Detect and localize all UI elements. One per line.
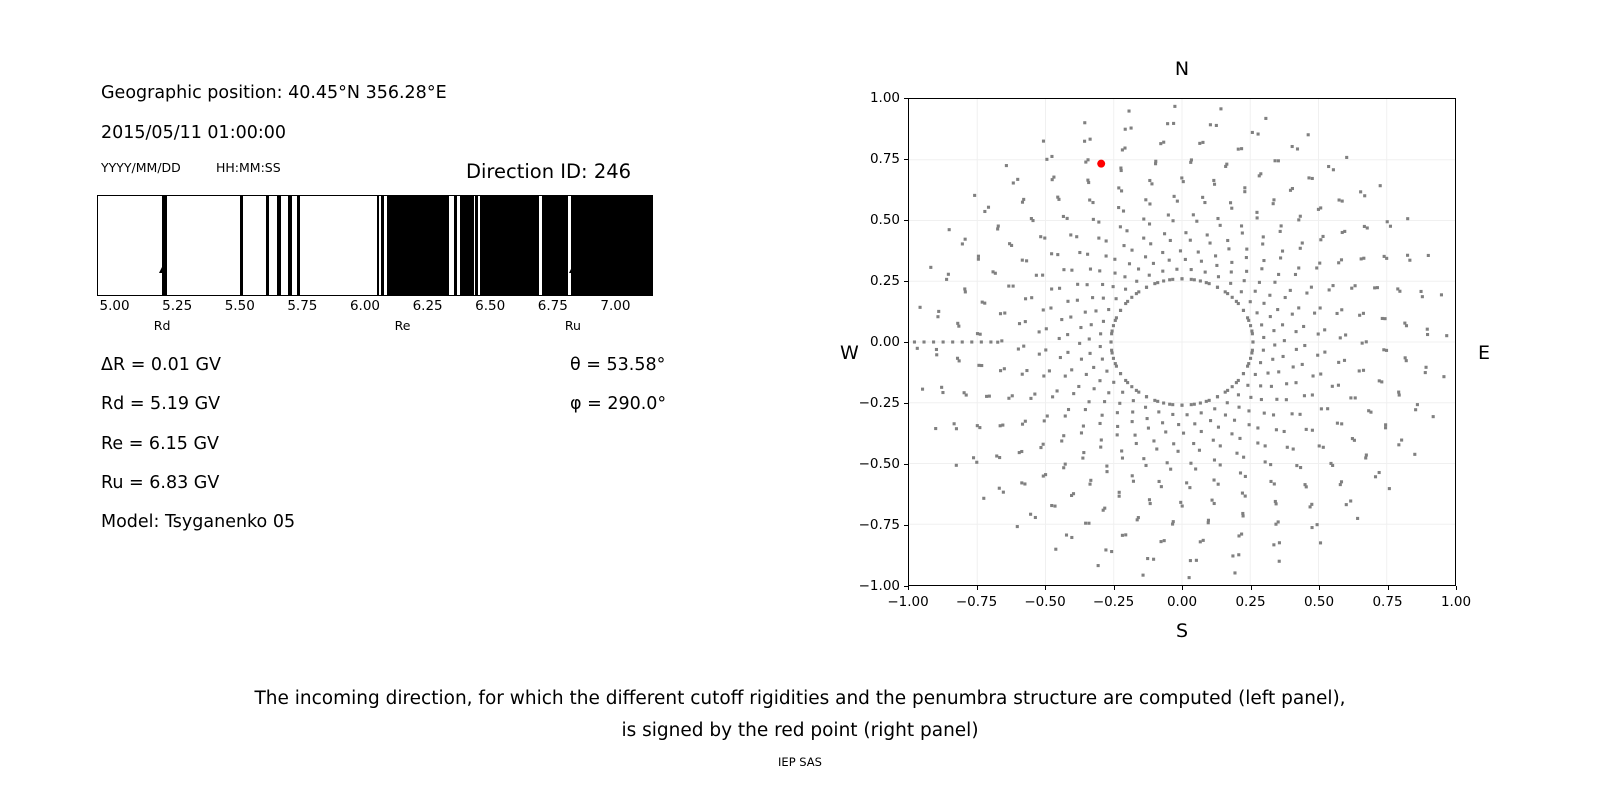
direction-point bbox=[1420, 290, 1423, 293]
direction-point bbox=[1364, 456, 1367, 459]
direction-point bbox=[1274, 159, 1277, 162]
direction-point bbox=[1119, 225, 1122, 228]
direction-point bbox=[1241, 231, 1244, 234]
direction-point bbox=[1310, 286, 1313, 289]
direction-point bbox=[1142, 217, 1145, 220]
sky-xtick-label: −0.25 bbox=[1093, 594, 1134, 610]
direction-point bbox=[1180, 277, 1183, 280]
direction-point bbox=[1340, 308, 1343, 311]
direction-point bbox=[1044, 348, 1047, 351]
direction-point bbox=[1058, 287, 1061, 290]
direction-point bbox=[1195, 559, 1198, 562]
direction-point bbox=[1341, 200, 1344, 203]
direction-point bbox=[1163, 232, 1166, 235]
direction-point bbox=[1278, 560, 1281, 563]
direction-point bbox=[1115, 316, 1118, 319]
direction-point bbox=[1216, 286, 1219, 289]
sky-ytick-label: −0.75 bbox=[846, 517, 900, 533]
direction-point bbox=[935, 348, 938, 351]
direction-point bbox=[1367, 409, 1370, 412]
direction-point bbox=[1351, 437, 1354, 440]
direction-point bbox=[1292, 365, 1295, 368]
direction-point bbox=[1111, 329, 1114, 332]
direction-point bbox=[1242, 309, 1245, 312]
direction-point bbox=[998, 456, 1001, 459]
sky-ytick-mark bbox=[904, 159, 908, 160]
direction-point bbox=[1189, 239, 1192, 242]
direction-point bbox=[1299, 413, 1302, 416]
direction-point bbox=[1336, 422, 1339, 425]
direction-point bbox=[1363, 194, 1366, 197]
direction-point bbox=[1207, 519, 1210, 522]
direction-point bbox=[1442, 375, 1445, 378]
param-ru: Ru = 6.83 GV bbox=[101, 473, 219, 493]
direction-point bbox=[1050, 252, 1053, 255]
direction-point bbox=[1362, 312, 1365, 315]
direction-point bbox=[948, 228, 951, 231]
direction-point bbox=[1264, 117, 1267, 120]
direction-point bbox=[1382, 348, 1385, 351]
direction-point bbox=[1088, 198, 1091, 201]
direction-point bbox=[1365, 453, 1368, 456]
direction-point bbox=[1254, 373, 1257, 376]
penumbra-forbidden-band bbox=[277, 196, 281, 295]
direction-point bbox=[1294, 273, 1297, 276]
direction-point bbox=[1156, 281, 1159, 284]
direction-point bbox=[1188, 486, 1191, 489]
direction-point bbox=[1205, 281, 1208, 284]
direction-point bbox=[1339, 336, 1342, 339]
direction-point bbox=[1131, 420, 1134, 423]
cutoff-marker-arrow-re bbox=[403, 266, 404, 296]
direction-point bbox=[1384, 423, 1387, 426]
direction-point bbox=[994, 272, 997, 275]
direction-point bbox=[1240, 147, 1243, 150]
direction-point bbox=[1146, 417, 1149, 420]
direction-point bbox=[1248, 423, 1251, 426]
direction-point bbox=[1141, 574, 1144, 577]
direction-point bbox=[1250, 351, 1253, 354]
penumbra-forbidden-band bbox=[240, 196, 244, 295]
direction-point bbox=[1246, 365, 1249, 368]
direction-point bbox=[1100, 438, 1103, 441]
direction-point bbox=[1303, 394, 1306, 397]
direction-point bbox=[1087, 181, 1090, 184]
direction-point bbox=[1219, 224, 1222, 227]
sky-xtick-mark bbox=[1456, 586, 1457, 590]
penumbra-xtick-label: 5.50 bbox=[225, 298, 255, 314]
direction-point bbox=[1042, 443, 1045, 446]
direction-point bbox=[1130, 249, 1133, 252]
direction-point bbox=[1137, 267, 1140, 270]
direction-point bbox=[1261, 242, 1264, 245]
param-phi: φ = 290.0° bbox=[570, 394, 666, 414]
direction-point bbox=[1259, 384, 1262, 387]
direction-point bbox=[983, 302, 986, 305]
direction-point bbox=[1286, 446, 1289, 449]
sky-ytick-label: −0.25 bbox=[846, 395, 900, 411]
direction-point bbox=[1238, 437, 1241, 440]
direction-point bbox=[1148, 274, 1151, 277]
param-model: Model: Tsyganenko 05 bbox=[101, 512, 295, 532]
direction-point bbox=[1118, 491, 1121, 494]
direction-point bbox=[1177, 423, 1180, 426]
direction-point bbox=[1113, 272, 1116, 275]
direction-point bbox=[1362, 257, 1365, 260]
direction-point bbox=[1209, 419, 1212, 422]
direction-point bbox=[1093, 387, 1096, 390]
direction-point bbox=[1273, 343, 1276, 346]
direction-point bbox=[1120, 449, 1123, 452]
sky-xtick-label: −0.50 bbox=[1024, 594, 1065, 610]
direction-point bbox=[1316, 523, 1319, 526]
direction-point bbox=[1144, 406, 1147, 409]
direction-point bbox=[1089, 138, 1092, 141]
direction-point bbox=[1276, 308, 1279, 311]
direction-point bbox=[1200, 260, 1203, 263]
sky-xtick-label: −0.75 bbox=[956, 594, 997, 610]
direction-point bbox=[1098, 379, 1101, 382]
direction-point bbox=[1039, 235, 1042, 238]
direction-point bbox=[1358, 369, 1361, 372]
direction-point bbox=[947, 273, 950, 276]
direction-point bbox=[1084, 522, 1087, 525]
direction-point bbox=[985, 395, 988, 398]
direction-point bbox=[1251, 340, 1254, 343]
penumbra-xtick-label: 6.75 bbox=[538, 298, 568, 314]
direction-point bbox=[1312, 374, 1315, 377]
direction-point bbox=[1054, 548, 1057, 551]
direction-point bbox=[1135, 442, 1138, 445]
direction-point bbox=[1260, 323, 1263, 326]
direction-point bbox=[1249, 324, 1252, 327]
direction-point bbox=[1337, 361, 1340, 364]
direction-point bbox=[1179, 249, 1182, 252]
direction-point bbox=[1099, 332, 1102, 335]
direction-point bbox=[1376, 286, 1379, 289]
direction-point bbox=[1362, 369, 1365, 372]
direction-point bbox=[1017, 347, 1020, 350]
compass-east-label: E bbox=[1478, 342, 1490, 364]
selected-direction-point bbox=[1097, 160, 1105, 168]
param-theta: θ = 53.58° bbox=[570, 355, 665, 375]
direction-point bbox=[1270, 385, 1273, 388]
direction-point bbox=[1305, 428, 1308, 431]
direction-point bbox=[1217, 275, 1220, 278]
direction-point bbox=[1144, 255, 1147, 258]
direction-point bbox=[1257, 133, 1260, 136]
direction-point bbox=[1310, 503, 1313, 506]
direction-point bbox=[1177, 450, 1180, 453]
direction-point bbox=[1148, 202, 1151, 205]
direction-point bbox=[1268, 294, 1271, 297]
direction-point bbox=[1445, 334, 1448, 337]
direction-point bbox=[1043, 419, 1046, 422]
direction-point bbox=[1172, 122, 1175, 125]
direction-point bbox=[1242, 456, 1245, 459]
direction-point bbox=[1168, 278, 1171, 281]
direction-point bbox=[1020, 450, 1023, 453]
direction-point bbox=[1060, 439, 1063, 442]
direction-point bbox=[961, 340, 964, 343]
direction-point bbox=[1359, 190, 1362, 193]
direction-point bbox=[1227, 247, 1230, 250]
direction-point bbox=[1123, 275, 1126, 278]
direction-point bbox=[1002, 491, 1005, 494]
direction-point bbox=[1237, 379, 1240, 382]
direction-point bbox=[1241, 492, 1244, 495]
direction-point bbox=[1279, 256, 1282, 259]
direction-point bbox=[1097, 237, 1100, 240]
direction-point bbox=[1340, 480, 1343, 483]
direction-point bbox=[932, 340, 935, 343]
direction-point bbox=[1150, 182, 1153, 185]
penumbra-forbidden-band bbox=[571, 196, 653, 295]
penumbra-forbidden-band bbox=[381, 196, 384, 295]
direction-point bbox=[1045, 327, 1048, 330]
direction-point bbox=[1148, 498, 1151, 501]
direction-point bbox=[1159, 540, 1162, 543]
penumbra-xtick-label: 7.00 bbox=[600, 298, 630, 314]
direction-point bbox=[934, 427, 937, 430]
direction-point bbox=[1383, 255, 1386, 258]
direction-point bbox=[1302, 325, 1305, 328]
direction-point bbox=[1331, 385, 1334, 388]
direction-point bbox=[1318, 262, 1321, 265]
direction-point bbox=[1279, 230, 1282, 233]
sky-ytick-mark bbox=[904, 281, 908, 282]
direction-point bbox=[1112, 357, 1115, 360]
direction-point bbox=[1137, 391, 1140, 394]
sky-plot-area bbox=[908, 98, 1456, 586]
direction-point bbox=[953, 422, 956, 425]
direction-point bbox=[1213, 183, 1216, 186]
direction-point bbox=[1081, 457, 1084, 460]
direction-point bbox=[1160, 485, 1163, 488]
direction-point bbox=[1142, 457, 1145, 460]
direction-point bbox=[1152, 439, 1155, 442]
direction-point bbox=[1378, 379, 1381, 382]
direction-point bbox=[1254, 290, 1257, 293]
direction-point bbox=[1124, 379, 1127, 382]
direction-point bbox=[1285, 382, 1288, 385]
direction-point bbox=[1272, 329, 1275, 332]
direction-point bbox=[1384, 317, 1387, 320]
direction-point bbox=[1016, 525, 1019, 528]
direction-point bbox=[1090, 323, 1093, 326]
direction-point bbox=[1378, 471, 1381, 474]
compass-south-label: S bbox=[1176, 620, 1188, 642]
direction-point bbox=[1296, 147, 1299, 150]
direction-point bbox=[1307, 133, 1310, 136]
direction-point bbox=[1130, 127, 1133, 130]
direction-point bbox=[1200, 411, 1203, 414]
direction-point bbox=[957, 325, 960, 328]
direction-point bbox=[1198, 449, 1201, 452]
sky-xtick-mark bbox=[1045, 586, 1046, 590]
direction-point bbox=[1044, 473, 1047, 476]
direction-point bbox=[1337, 384, 1340, 387]
direction-id-label: Direction ID: 246 bbox=[466, 160, 631, 183]
compass-north-label: N bbox=[1175, 58, 1189, 80]
direction-point bbox=[1144, 464, 1147, 467]
direction-point bbox=[1426, 328, 1429, 331]
direction-point bbox=[965, 394, 968, 397]
direction-point bbox=[1403, 322, 1406, 325]
direction-point bbox=[1272, 543, 1275, 546]
direction-point bbox=[1256, 426, 1259, 429]
direction-point bbox=[1295, 330, 1298, 333]
direction-point bbox=[1117, 186, 1120, 189]
direction-point bbox=[1397, 391, 1400, 394]
direction-point bbox=[1366, 226, 1369, 229]
direction-point bbox=[1021, 423, 1024, 426]
direction-point bbox=[1340, 422, 1343, 425]
direction-point bbox=[945, 278, 948, 281]
direction-point bbox=[1018, 322, 1021, 325]
direction-point bbox=[1025, 369, 1028, 372]
direction-point bbox=[999, 424, 1002, 427]
direction-point bbox=[1426, 333, 1429, 336]
direction-point bbox=[913, 340, 916, 343]
direction-point bbox=[1203, 201, 1206, 204]
penumbra-forbidden-band bbox=[297, 196, 300, 295]
direction-point bbox=[1264, 444, 1267, 447]
direction-point bbox=[1121, 457, 1124, 460]
direction-point bbox=[1029, 513, 1032, 516]
direction-point bbox=[1329, 462, 1332, 465]
direction-point bbox=[1272, 198, 1275, 201]
direction-point bbox=[1280, 224, 1283, 227]
direction-point bbox=[1099, 422, 1102, 425]
direction-point bbox=[1105, 254, 1108, 257]
direction-point bbox=[1167, 213, 1170, 216]
direction-point bbox=[1243, 186, 1246, 189]
direction-point bbox=[1249, 396, 1252, 399]
direction-point bbox=[1186, 413, 1189, 416]
direction-point bbox=[1190, 268, 1193, 271]
direction-point bbox=[1246, 384, 1249, 387]
direction-point bbox=[1225, 163, 1228, 166]
direction-point bbox=[1192, 442, 1195, 445]
direction-point bbox=[1212, 439, 1215, 442]
direction-point bbox=[1202, 539, 1205, 542]
direction-point bbox=[1117, 206, 1120, 209]
direction-point bbox=[1103, 507, 1106, 510]
direction-point bbox=[1080, 431, 1083, 434]
direction-point bbox=[1297, 306, 1300, 309]
direction-point bbox=[1119, 372, 1122, 375]
direction-point bbox=[1229, 201, 1232, 204]
direction-point bbox=[1349, 499, 1352, 502]
direction-point bbox=[1057, 198, 1060, 201]
direction-point bbox=[1440, 293, 1443, 296]
direction-point bbox=[1064, 375, 1067, 378]
direction-point bbox=[1289, 289, 1292, 292]
direction-point bbox=[1038, 353, 1041, 356]
direction-point bbox=[1113, 258, 1116, 261]
direction-point bbox=[1066, 351, 1069, 354]
direction-point bbox=[1206, 233, 1209, 236]
direction-point bbox=[1230, 432, 1233, 435]
direction-point bbox=[1171, 278, 1174, 281]
cutoff-marker-label-ru: Ru bbox=[565, 318, 581, 333]
direction-point bbox=[1084, 161, 1087, 164]
direction-point bbox=[1339, 483, 1342, 486]
direction-point bbox=[1305, 292, 1308, 295]
caption-line-1: The incoming direction, for which the di… bbox=[0, 683, 1600, 715]
direction-point bbox=[1023, 482, 1026, 485]
direction-point bbox=[1007, 397, 1010, 400]
direction-point bbox=[1168, 403, 1171, 406]
direction-point bbox=[955, 427, 958, 430]
direction-point bbox=[1350, 287, 1353, 290]
direction-point bbox=[1146, 557, 1149, 560]
direction-point bbox=[1169, 239, 1172, 242]
direction-point bbox=[1042, 374, 1045, 377]
direction-point bbox=[1045, 158, 1048, 161]
direction-point bbox=[1102, 297, 1105, 300]
direction-point bbox=[1131, 474, 1134, 477]
direction-point bbox=[1229, 282, 1232, 285]
direction-point bbox=[940, 386, 943, 389]
direction-point bbox=[1132, 399, 1135, 402]
direction-point bbox=[1262, 259, 1265, 262]
direction-point bbox=[958, 359, 961, 362]
direction-point bbox=[1317, 332, 1320, 335]
direction-point bbox=[1237, 553, 1240, 556]
direction-point bbox=[1130, 385, 1133, 388]
direction-point bbox=[1145, 286, 1148, 289]
direction-point bbox=[1398, 393, 1401, 396]
direction-point bbox=[1041, 274, 1044, 277]
penumbra-forbidden-band bbox=[387, 196, 449, 295]
direction-point bbox=[1030, 296, 1033, 299]
direction-point bbox=[1145, 395, 1148, 398]
direction-point bbox=[1152, 558, 1155, 561]
direction-point bbox=[1311, 526, 1314, 529]
direction-point bbox=[1142, 237, 1145, 240]
direction-point bbox=[1269, 315, 1272, 318]
direction-point bbox=[1152, 262, 1155, 265]
direction-point bbox=[1112, 381, 1115, 384]
direction-point bbox=[1171, 413, 1174, 416]
direction-point bbox=[1115, 365, 1118, 368]
direction-point bbox=[1161, 421, 1164, 424]
datetime-label: 2015/05/11 01:00:00 bbox=[101, 123, 286, 143]
param-rd: Rd = 5.19 GV bbox=[101, 394, 220, 414]
penumbra-forbidden-band bbox=[460, 196, 474, 295]
direction-point bbox=[1356, 517, 1359, 520]
direction-point bbox=[1256, 311, 1259, 314]
direction-point bbox=[1069, 233, 1072, 236]
direction-point bbox=[1179, 501, 1182, 504]
direction-point bbox=[996, 341, 999, 344]
direction-point bbox=[1184, 231, 1187, 234]
direction-point bbox=[1110, 349, 1113, 352]
direction-point bbox=[1262, 302, 1265, 305]
direction-point bbox=[1164, 430, 1167, 433]
direction-point bbox=[1345, 503, 1348, 506]
direction-point bbox=[1245, 270, 1248, 273]
direction-point bbox=[998, 487, 1001, 490]
direction-point bbox=[1388, 487, 1391, 490]
direction-point bbox=[999, 312, 1002, 315]
direction-point bbox=[1059, 356, 1062, 359]
direction-point bbox=[1239, 471, 1242, 474]
direction-point bbox=[1022, 198, 1025, 201]
direction-point bbox=[1188, 576, 1191, 579]
